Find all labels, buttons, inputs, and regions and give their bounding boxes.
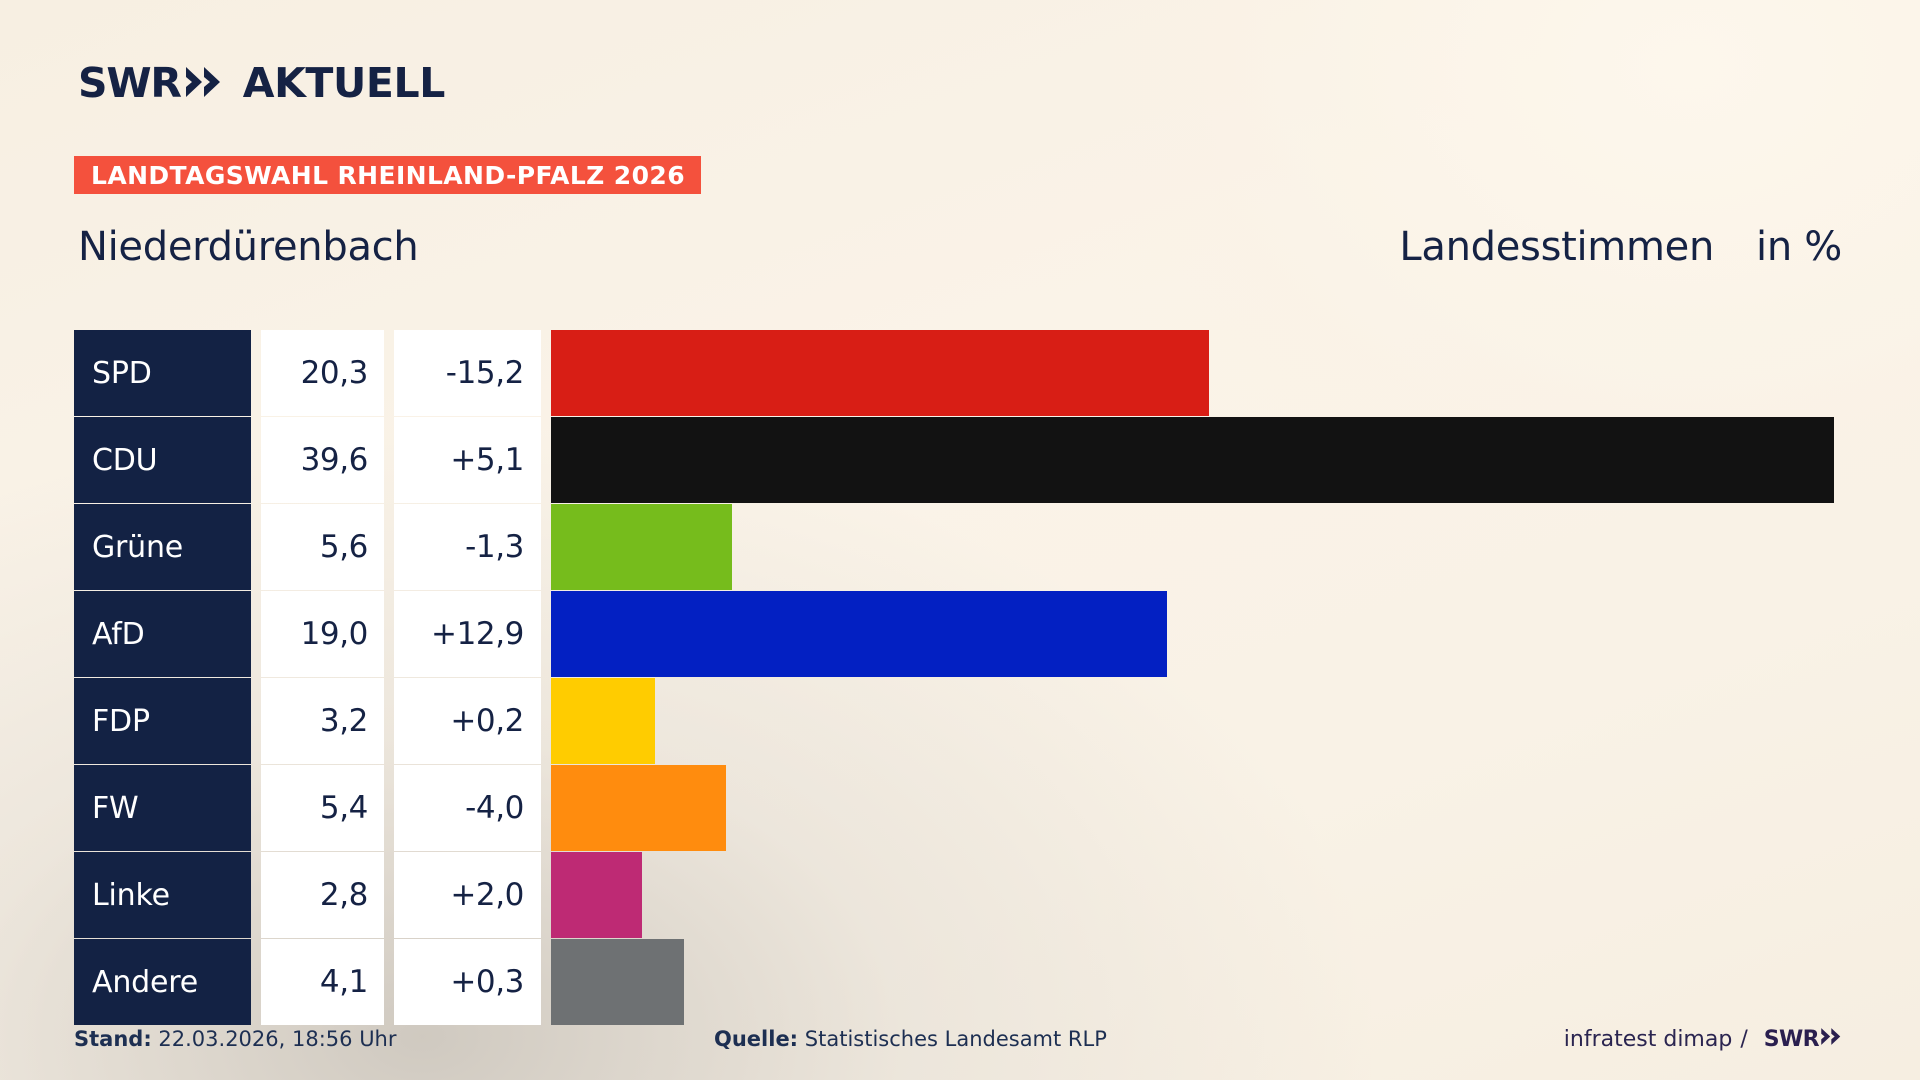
timestamp-label: Stand:	[74, 1027, 152, 1051]
table-row: CDU39,6+5,1	[74, 417, 1846, 503]
logo-swr-text: SWR	[78, 63, 181, 104]
result-value-cell: 5,4	[261, 765, 384, 851]
party-label: FDP	[92, 704, 150, 739]
result-value-cell: 19,0	[261, 591, 384, 677]
result-value-cell: 2,8	[261, 852, 384, 938]
result-bar	[551, 765, 726, 851]
bar-track	[551, 765, 1846, 851]
cell-spacer	[541, 504, 551, 590]
bar-track	[551, 852, 1846, 938]
cell-spacer	[384, 852, 394, 938]
unit-label: in %	[1756, 224, 1842, 270]
result-bar	[551, 678, 655, 764]
cell-spacer	[251, 504, 261, 590]
infographic-canvas: SWR AKTUELL LANDTAGSWAHL RHEINLAND-PFALZ…	[0, 0, 1920, 1080]
result-change-cell: +0,2	[394, 678, 541, 764]
region-name: Niederdürenbach	[78, 224, 418, 270]
cell-spacer	[541, 939, 551, 1025]
cell-spacer	[384, 504, 394, 590]
vote-type-label: Landesstimmen	[1399, 224, 1714, 270]
bar-track	[551, 678, 1846, 764]
result-bar	[551, 939, 684, 1025]
result-change: -1,3	[465, 529, 524, 565]
result-value-cell: 4,1	[261, 939, 384, 1025]
result-value: 3,2	[320, 703, 368, 739]
cell-spacer	[384, 939, 394, 1025]
result-value: 4,1	[320, 964, 368, 1000]
party-label: FW	[92, 791, 139, 826]
bar-track	[551, 591, 1846, 677]
result-change: +0,2	[450, 703, 524, 739]
result-change-cell: -4,0	[394, 765, 541, 851]
result-change: +0,3	[450, 964, 524, 1000]
cell-spacer	[384, 330, 394, 416]
table-row: Andere4,1+0,3	[74, 939, 1846, 1025]
source-label: Quelle:	[714, 1027, 798, 1051]
party-label: AfD	[92, 617, 145, 652]
bar-track	[551, 939, 1846, 1025]
party-cell: FW	[74, 765, 251, 851]
swr-aktuell-logo: SWR AKTUELL	[78, 58, 445, 108]
cell-spacer	[384, 417, 394, 503]
logo-aktuell-text: AKTUELL	[243, 63, 445, 104]
cell-spacer	[384, 591, 394, 677]
party-label: SPD	[92, 356, 152, 391]
source: Quelle: Statistisches Landesamt RLP	[714, 1027, 1564, 1051]
result-value: 5,4	[320, 790, 368, 826]
party-cell: Andere	[74, 939, 251, 1025]
party-label: Linke	[92, 878, 170, 913]
party-cell: AfD	[74, 591, 251, 677]
result-change-cell: +12,9	[394, 591, 541, 677]
result-value-cell: 20,3	[261, 330, 384, 416]
results-table: SPD20,3-15,2CDU39,6+5,1Grüne5,6-1,3AfD19…	[74, 330, 1846, 1026]
credit: infratest dimap / SWR	[1564, 1027, 1846, 1052]
result-change-cell: +2,0	[394, 852, 541, 938]
bar-track	[551, 417, 1846, 503]
cell-spacer	[251, 678, 261, 764]
result-bar	[551, 504, 732, 590]
cell-spacer	[541, 591, 551, 677]
cell-spacer	[251, 939, 261, 1025]
result-bar	[551, 852, 642, 938]
party-label: CDU	[92, 443, 157, 478]
bar-track	[551, 504, 1846, 590]
cell-spacer	[541, 852, 551, 938]
cell-spacer	[251, 765, 261, 851]
credit-broadcaster: SWR	[1764, 1027, 1819, 1052]
result-value-cell: 3,2	[261, 678, 384, 764]
double-chevron-right-icon	[184, 65, 230, 102]
footer: Stand: 22.03.2026, 18:56 Uhr Quelle: Sta…	[74, 1022, 1846, 1056]
cell-spacer	[541, 678, 551, 764]
cell-spacer	[384, 678, 394, 764]
party-cell: Linke	[74, 852, 251, 938]
election-banner-label: LANDTAGSWAHL RHEINLAND-PFALZ 2026	[91, 163, 685, 188]
cell-spacer	[384, 765, 394, 851]
result-value: 5,6	[320, 529, 368, 565]
result-change: +2,0	[450, 877, 524, 913]
result-value: 20,3	[301, 355, 368, 391]
result-bar	[551, 591, 1167, 677]
party-cell: CDU	[74, 417, 251, 503]
subheader: Niederdürenbach Landesstimmen in %	[78, 218, 1842, 276]
timestamp: Stand: 22.03.2026, 18:56 Uhr	[74, 1027, 714, 1051]
result-change: +12,9	[431, 616, 524, 652]
table-row: SPD20,3-15,2	[74, 330, 1846, 416]
bar-track	[551, 330, 1846, 416]
result-change: -4,0	[465, 790, 524, 826]
cell-spacer	[541, 765, 551, 851]
cell-spacer	[251, 417, 261, 503]
party-cell: Grüne	[74, 504, 251, 590]
credit-separator: /	[1740, 1027, 1747, 1052]
table-row: FDP3,2+0,2	[74, 678, 1846, 764]
timestamp-value: 22.03.2026, 18:56 Uhr	[158, 1027, 396, 1051]
result-value: 19,0	[301, 616, 368, 652]
result-change-cell: -15,2	[394, 330, 541, 416]
party-label: Andere	[92, 965, 198, 1000]
cell-spacer	[251, 852, 261, 938]
party-cell: SPD	[74, 330, 251, 416]
result-value: 39,6	[301, 442, 368, 478]
table-row: Linke2,8+2,0	[74, 852, 1846, 938]
double-chevron-right-icon	[1820, 1027, 1846, 1052]
source-value: Statistisches Landesamt RLP	[805, 1027, 1107, 1051]
result-change-cell: -1,3	[394, 504, 541, 590]
result-change: +5,1	[450, 442, 524, 478]
result-bar	[551, 417, 1834, 503]
party-cell: FDP	[74, 678, 251, 764]
result-value-cell: 39,6	[261, 417, 384, 503]
table-row: Grüne5,6-1,3	[74, 504, 1846, 590]
election-banner: LANDTAGSWAHL RHEINLAND-PFALZ 2026	[74, 156, 701, 194]
result-change-cell: +0,3	[394, 939, 541, 1025]
party-label: Grüne	[92, 530, 183, 565]
result-value-cell: 5,6	[261, 504, 384, 590]
cell-spacer	[251, 591, 261, 677]
result-value: 2,8	[320, 877, 368, 913]
table-row: FW5,4-4,0	[74, 765, 1846, 851]
result-change: -15,2	[446, 355, 524, 391]
result-change-cell: +5,1	[394, 417, 541, 503]
table-row: AfD19,0+12,9	[74, 591, 1846, 677]
result-bar	[551, 330, 1209, 416]
credit-agency: infratest dimap	[1564, 1027, 1733, 1052]
cell-spacer	[541, 417, 551, 503]
cell-spacer	[541, 330, 551, 416]
cell-spacer	[251, 330, 261, 416]
